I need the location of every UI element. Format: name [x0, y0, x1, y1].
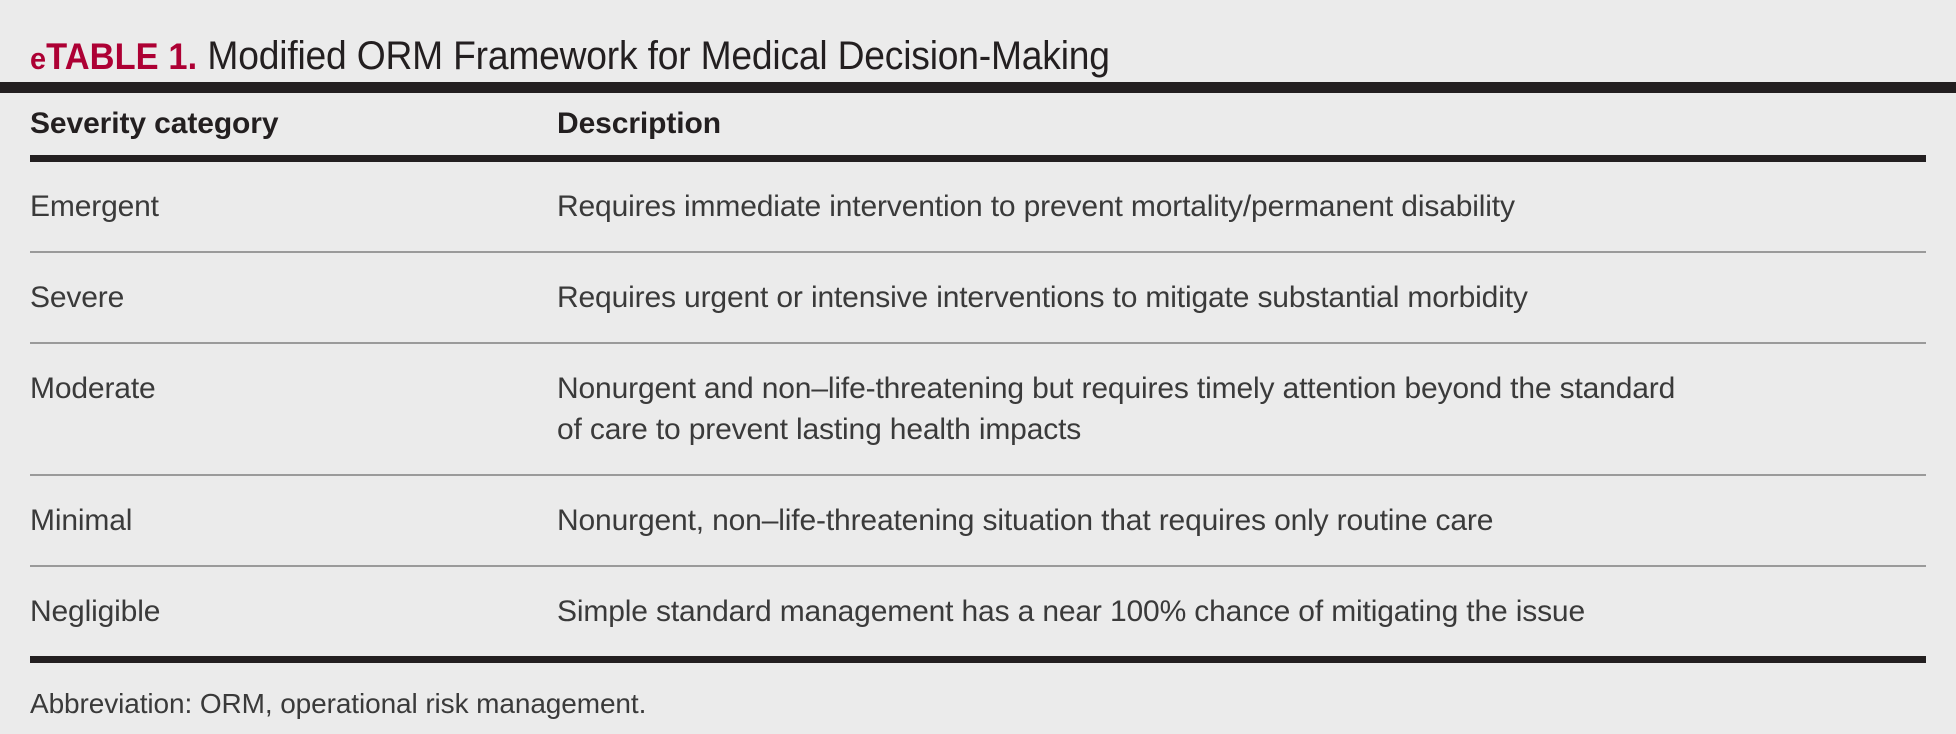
column-header-description: Description	[557, 107, 1926, 141]
table-title-line: eTABLE 1. Modified ORM Framework for Med…	[30, 34, 1110, 81]
etable-number-label: eTABLE 1.	[30, 36, 197, 77]
table-footnote: Abbreviation: ORM, operational risk mana…	[0, 663, 1956, 723]
table-title-block: eTABLE 1. Modified ORM Framework for Med…	[0, 0, 1956, 74]
column-header-severity-category: Severity category	[30, 107, 557, 141]
table-header-row: Severity category Description	[0, 93, 1956, 155]
cell-description: Simple standard management has a near 10…	[557, 591, 1926, 632]
table-row: Moderate Nonurgent and non–life-threaten…	[0, 344, 1956, 474]
description-line: of care to prevent lasting health impact…	[557, 409, 1926, 450]
title-underline-rule	[0, 82, 1956, 93]
etable-label-e: e	[30, 41, 46, 76]
table-title: Modified ORM Framework for Medical Decis…	[207, 34, 1109, 78]
table-row: Emergent Requires immediate intervention…	[0, 162, 1956, 251]
table-bottom-rule	[30, 656, 1926, 663]
cell-severity-category: Negligible	[30, 591, 557, 632]
description-line: Nonurgent, non–life-threatening situatio…	[557, 500, 1926, 541]
cell-description: Requires urgent or intensive interventio…	[557, 277, 1926, 318]
cell-severity-category: Severe	[30, 277, 557, 318]
cell-description: Nonurgent, non–life-threatening situatio…	[557, 500, 1926, 541]
description-line: Requires immediate intervention to preve…	[557, 186, 1926, 227]
table-row: Minimal Nonurgent, non–life-threatening …	[0, 476, 1956, 565]
description-line: Simple standard management has a near 10…	[557, 591, 1926, 632]
cell-severity-category: Minimal	[30, 500, 557, 541]
description-line: Requires urgent or intensive interventio…	[557, 277, 1926, 318]
etable-label-rest: TABLE 1.	[46, 36, 197, 77]
cell-description: Nonurgent and non–life-threatening but r…	[557, 368, 1926, 450]
etable-figure: eTABLE 1. Modified ORM Framework for Med…	[0, 0, 1956, 734]
cell-description: Requires immediate intervention to preve…	[557, 186, 1926, 227]
table-row: Negligible Simple standard management ha…	[0, 567, 1956, 656]
cell-severity-category: Emergent	[30, 186, 557, 227]
cell-severity-category: Moderate	[30, 368, 557, 409]
table-row: Severe Requires urgent or intensive inte…	[0, 253, 1956, 342]
table-title-text	[197, 34, 207, 78]
header-underline-rule	[30, 155, 1926, 162]
description-line: Nonurgent and non–life-threatening but r…	[557, 368, 1926, 409]
